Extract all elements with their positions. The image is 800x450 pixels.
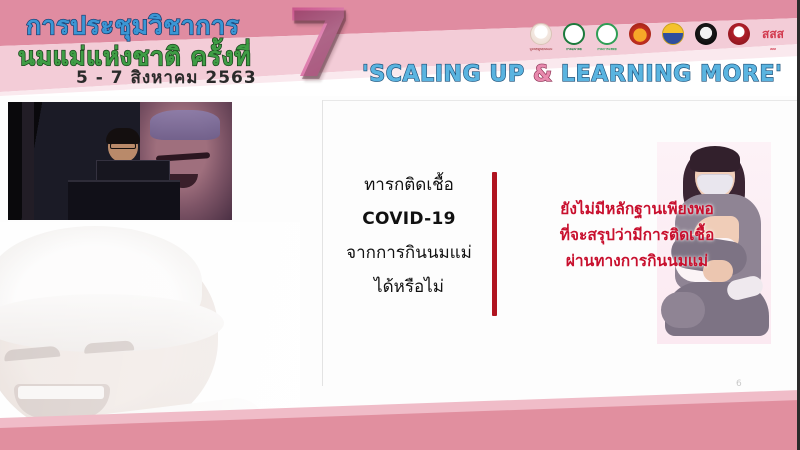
mahidol-university-logo xyxy=(692,22,720,52)
sponsor-logos-row: มูลนิธิศูนย์นมแม่ กรมอนามัย กรมการแพทย์ … xyxy=(527,22,788,52)
logo-mark xyxy=(662,23,684,45)
royal-college-pediatricians-logo xyxy=(626,22,654,52)
thaihealth-sss-logo: สสสสสส xyxy=(758,22,788,52)
logo-mark xyxy=(530,23,552,45)
slide-header-banner: 7 การประชุมวิชาการ นมแม่แห่งชาติ ครั้งที… xyxy=(0,0,800,96)
nursing-council-logo xyxy=(659,22,687,52)
logo-mark xyxy=(629,23,651,45)
presentation-slide: 7 การประชุมวิชาการ นมแม่แห่งชาติ ครั้งที… xyxy=(0,0,800,450)
column-divider xyxy=(322,100,323,386)
logo-mark xyxy=(728,23,750,45)
answer-text-block: ยังไม่มีหลักฐานเพียงพอ ที่จะสรุปว่ามีการ… xyxy=(506,196,768,274)
question-text-block: ทารกติดเชื้อ COVID-19 จากการกินนมแม่ ได้… xyxy=(334,168,484,304)
answer-line-2: ที่จะสรุปว่ามีการติดเชื้อ xyxy=(506,222,768,248)
question-line-3: จากการกินนมแม่ xyxy=(334,236,484,270)
tagline-ampersand: & xyxy=(533,62,553,87)
thai-breastfeeding-foundation-logo: มูลนิธิศูนย์นมแม่ xyxy=(527,22,555,52)
speaker-hair xyxy=(106,128,140,144)
logo-caption: มูลนิธิศูนย์นมแม่ xyxy=(527,48,555,52)
mother-eyebrow-right xyxy=(719,170,729,172)
tagline-part-2: LEARNING MORE' xyxy=(553,62,783,87)
tagline-part-1: 'SCALING UP xyxy=(362,62,533,87)
question-line-2: COVID-19 xyxy=(334,202,484,236)
answer-line-3: ผ่านทางการกินนมแม่ xyxy=(506,248,768,274)
question-line-1: ทารกติดเชื้อ xyxy=(334,168,484,202)
logo-caption: กรมอนามัย xyxy=(560,48,588,52)
logo-caption: กรมการแพทย์ xyxy=(593,48,621,52)
speaker-glasses xyxy=(110,143,136,149)
podium xyxy=(68,180,180,220)
answer-line-1: ยังไม่มีหลักฐานเพียงพอ xyxy=(506,196,768,222)
logo-mark xyxy=(695,23,717,45)
red-vertical-divider xyxy=(492,172,497,316)
slide-footer-banner xyxy=(0,388,800,450)
conference-tagline: 'SCALING UP & LEARNING MORE' xyxy=(362,62,782,87)
logo-caption: สสส xyxy=(758,48,788,52)
mother-hair-top xyxy=(690,146,740,172)
logo-mark xyxy=(563,23,585,45)
question-line-4: ได้หรือไม่ xyxy=(334,270,484,304)
speaker-video-feed[interactable] xyxy=(8,102,232,220)
mother-eyebrow-left xyxy=(701,170,711,172)
ministry-of-public-health-logo: กรมอนามัย xyxy=(560,22,588,52)
logo-mark xyxy=(596,23,618,45)
mother-knee xyxy=(661,292,705,328)
stage-pillar xyxy=(22,102,34,220)
conference-date: 5 - 7 สิงหาคม 2563 xyxy=(76,64,257,91)
conference-edition-number: 7 xyxy=(286,0,351,92)
royal-thai-college-logo xyxy=(725,22,753,52)
department-of-health-logo: กรมการแพทย์ xyxy=(593,22,621,52)
logo-mark: สสส xyxy=(758,25,788,47)
content-top-rule xyxy=(322,100,800,101)
